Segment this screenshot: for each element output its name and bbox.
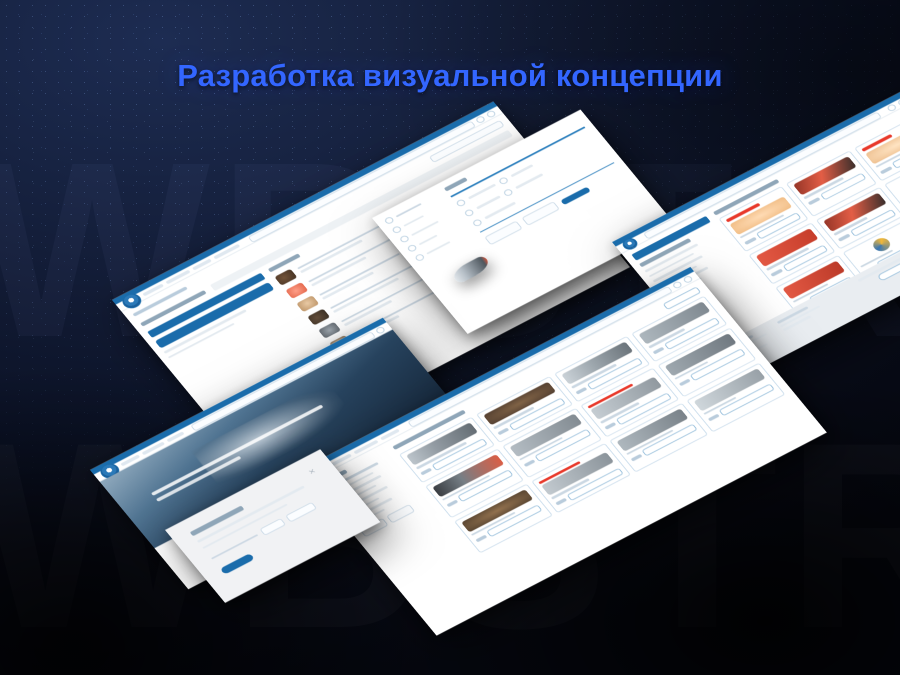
product-thumbnail	[285, 282, 308, 299]
slide-title: Разработка визуальной концепции	[0, 58, 900, 94]
checkbox-icon[interactable]	[463, 208, 474, 217]
radio-icon[interactable]	[391, 225, 402, 234]
product-thumbnail	[318, 322, 341, 339]
mockup-collage	[0, 0, 900, 675]
name-field[interactable]	[285, 502, 317, 522]
account-icon[interactable]	[897, 98, 900, 107]
slide-canvas: WBSTR WBSTR Разработка визуальной концеп…	[0, 0, 900, 675]
radio-icon[interactable]	[399, 234, 410, 243]
apply-filter-button[interactable]	[560, 186, 590, 204]
product-image	[793, 156, 856, 195]
radio-icon[interactable]	[383, 216, 394, 225]
radio-icon[interactable]	[414, 253, 425, 262]
radio-icon[interactable]	[406, 244, 417, 253]
checkbox-icon[interactable]	[455, 198, 466, 207]
price-max-input[interactable]	[521, 201, 559, 226]
checkbox-icon[interactable]	[498, 176, 509, 185]
product-thumbnail	[274, 269, 297, 286]
product-thumbnail	[307, 308, 330, 325]
price-min-input[interactable]	[484, 221, 522, 246]
close-icon[interactable]	[308, 468, 317, 475]
checkbox-icon[interactable]	[471, 218, 482, 227]
price-max-input[interactable]	[386, 504, 415, 523]
phone-field[interactable]	[259, 518, 286, 536]
product-thumbnail	[296, 295, 319, 312]
checkbox-icon[interactable]	[502, 188, 513, 197]
